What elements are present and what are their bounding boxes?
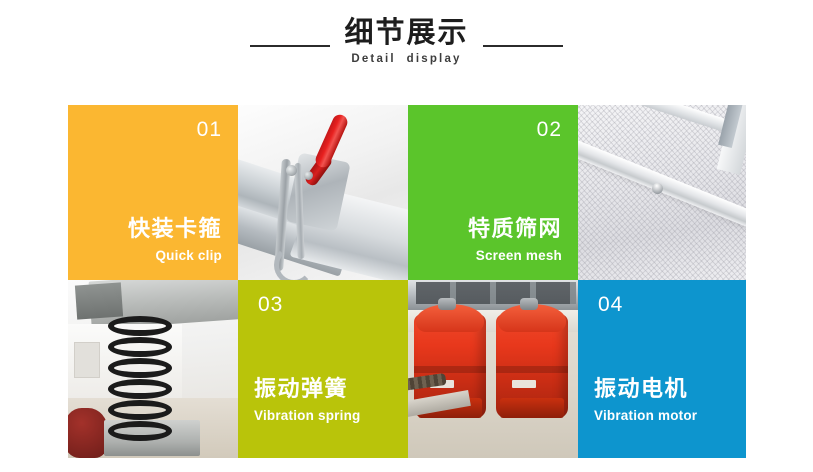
tile-label-en-02: Screen mesh: [468, 248, 562, 264]
tile-label-en-01: Quick clip: [128, 248, 222, 264]
page-title: 细节展示: [344, 18, 468, 47]
motor-band: [496, 366, 568, 373]
motor-band: [414, 366, 486, 373]
tile-label-cn-01: 快装卡箍: [128, 217, 222, 242]
spring-top-bracket: [75, 282, 123, 319]
motor-tag: [512, 380, 536, 388]
detail-tile-03[interactable]: 03 振动弹簧 Vibration spring: [238, 280, 408, 458]
detail-display-page: 细节展示 Detail display 01 快装卡箍 Quick clip: [0, 0, 813, 472]
tile-number-01: 01: [197, 119, 222, 140]
motor-unit-right: [496, 314, 568, 418]
quick-clip-photo: [238, 105, 408, 280]
tile-labels-01: 快装卡箍 Quick clip: [128, 217, 222, 264]
spring-wall-slot: [74, 342, 100, 378]
detail-tile-01[interactable]: 01 快装卡箍 Quick clip: [68, 105, 238, 280]
clip-pivot-bolt-2: [304, 171, 313, 180]
spring-coil-turn: [108, 358, 172, 378]
clip-hook: [274, 245, 314, 280]
spring-coil-turn: [108, 421, 172, 441]
header-rule-left: [250, 45, 330, 47]
spring-coil-turn: [108, 379, 172, 399]
tile-number-04: 04: [598, 294, 623, 315]
motor-knob: [520, 298, 538, 310]
spring-coil-turn: [108, 400, 172, 420]
tile-label-en-03: Vibration spring: [254, 408, 360, 424]
detail-tile-02[interactable]: 02 特质筛网 Screen mesh: [408, 105, 578, 280]
motor-foot: [500, 398, 564, 418]
detail-tile-04[interactable]: 04 振动电机 Vibration motor: [578, 280, 746, 458]
tile-labels-03: 振动弹簧 Vibration spring: [254, 377, 360, 424]
page-header: 细节展示 Detail display: [0, 18, 813, 90]
screen-mesh-photo: [578, 105, 746, 280]
tile-number-03: 03: [258, 294, 283, 315]
tile-labels-02: 特质筛网 Screen mesh: [468, 217, 562, 264]
tile-label-cn-02: 特质筛网: [468, 217, 562, 242]
title-block: 细节展示 Detail display: [344, 18, 468, 66]
page-subtitle: Detail display: [351, 54, 461, 66]
header-inner: 细节展示 Detail display: [250, 18, 562, 66]
tile-number-02: 02: [537, 119, 562, 140]
tile-label-cn-03: 振动弹簧: [254, 377, 360, 402]
tile-labels-04: 振动电机 Vibration motor: [594, 377, 697, 424]
detail-grid: 01 快装卡箍 Quick clip 02 特质筛网 Scree: [68, 105, 746, 458]
clip-pivot-bolt: [286, 165, 297, 176]
tile-label-cn-04: 振动电机: [594, 377, 697, 402]
spring-coil-turn: [108, 316, 172, 336]
tile-label-en-04: Vibration motor: [594, 408, 697, 424]
motor-knob: [438, 298, 456, 310]
header-rule-right: [483, 45, 563, 47]
spring-coil-turn: [108, 337, 172, 357]
spring-coil: [108, 316, 172, 446]
vibration-spring-photo: [68, 280, 238, 458]
vibration-motor-photo: [408, 280, 578, 458]
spring-red-part: [68, 408, 108, 458]
